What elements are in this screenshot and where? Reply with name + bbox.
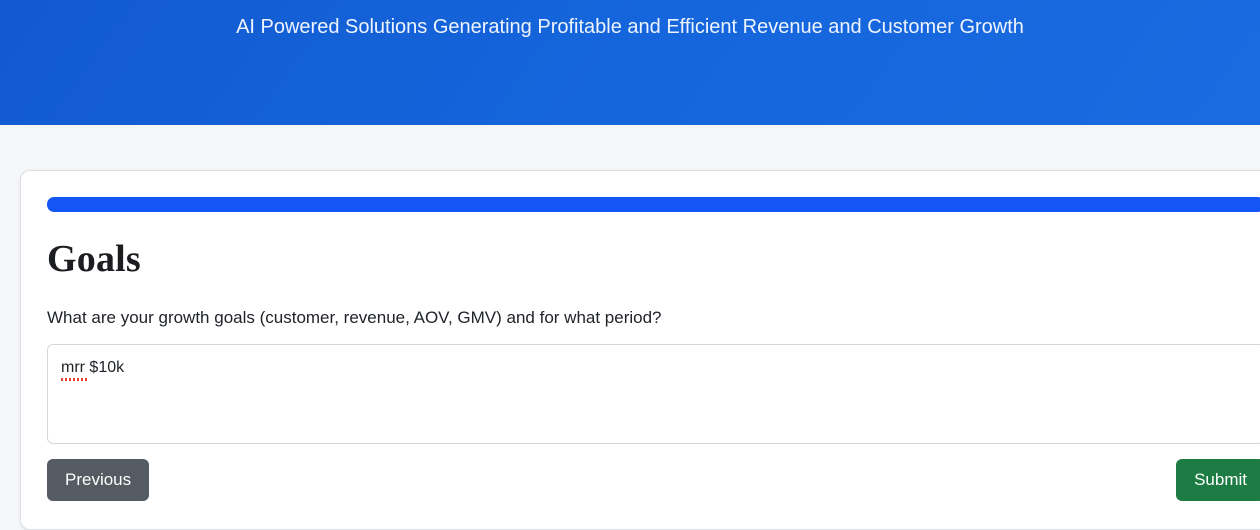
progress-bar-track — [47, 197, 1260, 212]
form-card: Goals What are your growth goals (custom… — [20, 170, 1260, 530]
form-button-row: Previous Submit — [47, 459, 1260, 501]
question-label: What are your growth goals (customer, re… — [47, 306, 1260, 330]
previous-button[interactable]: Previous — [47, 459, 149, 501]
site-subtitle: AI Powered Solutions Generating Profitab… — [0, 14, 1260, 41]
answer-input-wrapper — [47, 344, 1260, 444]
site-header: Strategy AI Powered Solutions Generating… — [0, 0, 1260, 125]
progress-bar-fill — [47, 197, 1260, 212]
page-title: Goals — [47, 240, 1260, 278]
goals-answer-textarea[interactable] — [47, 344, 1260, 444]
submit-button[interactable]: Submit — [1176, 459, 1260, 501]
